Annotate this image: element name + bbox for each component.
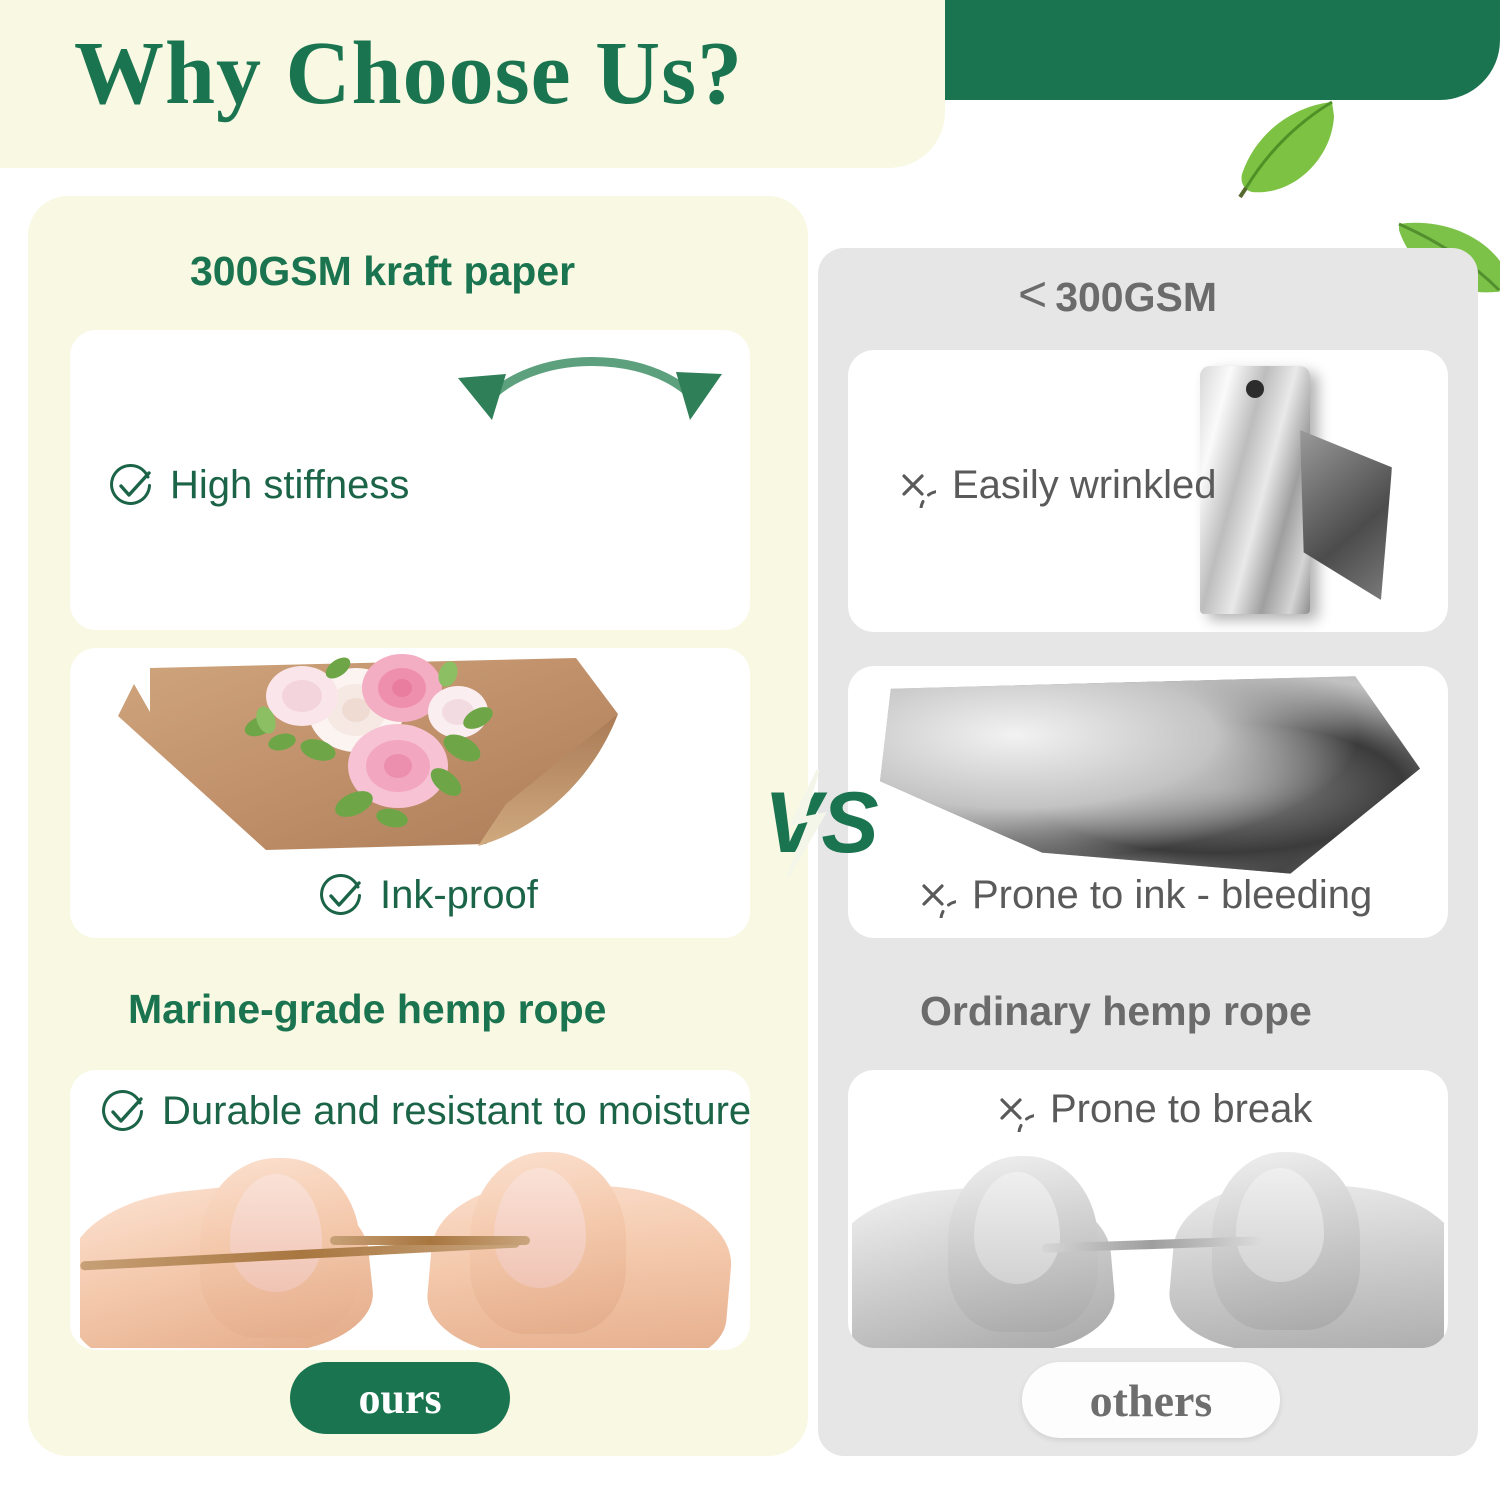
x-circle-icon: [910, 872, 956, 918]
feature-ink-bleeding: Prone to ink - bleeding: [910, 872, 1372, 918]
feature-label: Durable and resistant to moisture: [162, 1089, 751, 1134]
vs-label: VS: [764, 775, 879, 871]
rope-photo-ours: [80, 1148, 740, 1348]
heading-marine-grade-hemp-rope: Marine-grade hemp rope: [128, 986, 606, 1033]
check-circle-icon: [100, 1088, 146, 1134]
crumpled-dark-paper: [880, 672, 1420, 882]
feature-prone-to-break: Prone to break: [988, 1086, 1312, 1132]
rope-photo-others: [852, 1144, 1444, 1348]
x-circle-icon: [988, 1086, 1034, 1132]
wrinkled-flap: [1300, 430, 1392, 600]
x-circle-icon: [890, 462, 936, 508]
leaf-icon: [1232, 96, 1342, 200]
heading-gsm-value: 300GSM: [1055, 274, 1217, 321]
feature-easily-wrinkled: Easily wrinkled: [890, 462, 1217, 508]
feature-label: Easily wrinkled: [952, 463, 1217, 508]
vs-badge: VS: [762, 768, 882, 878]
check-circle-icon: [108, 462, 154, 508]
feature-ink-proof: Ink-proof: [318, 872, 538, 918]
feature-high-stiffness: High stiffness: [108, 462, 409, 508]
heading-ordinary-hemp-rope: Ordinary hemp rope: [920, 988, 1312, 1035]
less-than-icon: <: [1018, 269, 1047, 319]
feature-label: Prone to ink - bleeding: [972, 873, 1372, 918]
feature-label: Ink-proof: [380, 873, 538, 918]
feature-label: Prone to break: [1050, 1087, 1312, 1132]
tag-hole: [1246, 380, 1264, 398]
badge-others[interactable]: others: [1022, 1362, 1280, 1438]
bend-arrows-icon: [440, 334, 740, 426]
page-title: Why Choose Us?: [74, 22, 743, 125]
feature-durable-moisture: Durable and resistant to moisture: [100, 1088, 751, 1134]
check-circle-icon: [318, 872, 364, 918]
kraft-tag-roses: [106, 654, 666, 854]
badge-ours[interactable]: ours: [290, 1362, 510, 1434]
feature-label: High stiffness: [170, 463, 409, 508]
heading-less-than-300gsm: < 300GSM: [1018, 272, 1217, 322]
heading-300gsm-kraft-paper: 300GSM kraft paper: [190, 248, 575, 295]
